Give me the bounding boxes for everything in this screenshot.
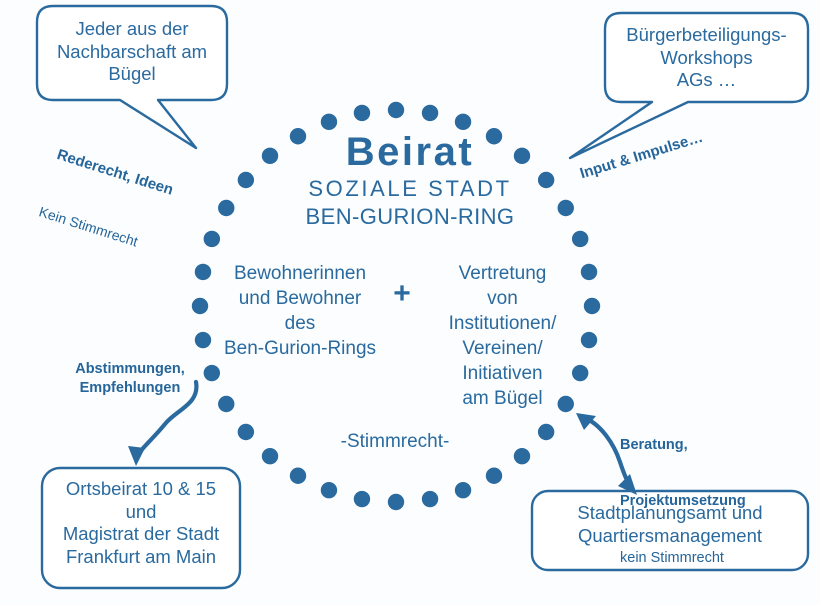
ring-dot xyxy=(321,482,337,498)
ring-dot xyxy=(218,396,234,412)
ring-dot xyxy=(538,424,554,440)
ring-dot xyxy=(238,424,254,440)
ring-dot xyxy=(455,482,471,498)
ring-dot xyxy=(514,448,530,464)
ring-dot xyxy=(422,105,438,121)
bubble-top-left-label: Jeder aus der Nachbarschaft am Bügel xyxy=(40,18,224,86)
ring-dot xyxy=(354,105,370,121)
annotation-rederecht-bold: Rederecht, Ideen xyxy=(54,145,251,224)
bubble-top-right-label: Bürgerbeteiligungs- Workshops AGs … xyxy=(608,24,805,92)
annotation-beratung-line1: Beratung, xyxy=(620,436,820,455)
ring-dot xyxy=(354,491,370,507)
ring-dot xyxy=(388,102,404,118)
ring-dot xyxy=(422,491,438,507)
center-footer-note: -Stimmrecht- xyxy=(285,430,505,453)
ring-dot xyxy=(572,231,588,247)
annotation-abstimmungen: Abstimmungen, Empfehlungen xyxy=(40,360,220,398)
ring-dot xyxy=(388,494,404,510)
plus-icon: + xyxy=(385,276,419,313)
annotation-beratung-line3: kein Stimmrecht xyxy=(620,549,820,568)
ring-dot xyxy=(290,468,306,484)
diagram-canvas: Beirat SOZIALE STADT BEN-GURION-RING Bew… xyxy=(0,0,820,600)
center-column-institutions: Vertretung von Institutionen/ Vereinen/ … xyxy=(420,261,585,411)
annotation-rederecht-regular: Kein Stimmrecht xyxy=(37,202,233,280)
box-bottom-left-label: Ortsbeirat 10 & 15 und Magistrat der Sta… xyxy=(44,478,238,568)
ring-dot xyxy=(262,448,278,464)
annotation-beratung: Beratung, Projektumsetzung kein Stimmrec… xyxy=(620,398,820,605)
ring-dot xyxy=(486,468,502,484)
ring-dot xyxy=(584,298,600,314)
annotation-beratung-line2: Projektumsetzung xyxy=(620,492,820,511)
center-column-residents: Bewohnerinnen und Bewohner des Ben-Gurio… xyxy=(205,261,395,361)
